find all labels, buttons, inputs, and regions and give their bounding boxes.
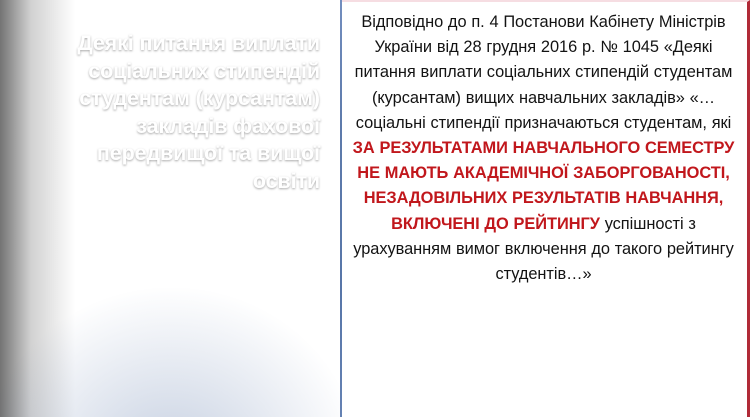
title-panel: Деякі питання виплати соціальних стипенд…	[0, 0, 342, 417]
paragraph-lead: Відповідно до п. 4 Постанови Кабінету Мі…	[355, 13, 733, 132]
body-panel: Відповідно до п. 4 Постанови Кабінету Мі…	[342, 0, 750, 417]
body-paragraph: Відповідно до п. 4 Постанови Кабінету Мі…	[350, 10, 737, 287]
slide: Деякі питання виплати соціальних стипенд…	[0, 0, 750, 417]
slide-title: Деякі питання виплати соціальних стипенд…	[60, 30, 320, 195]
